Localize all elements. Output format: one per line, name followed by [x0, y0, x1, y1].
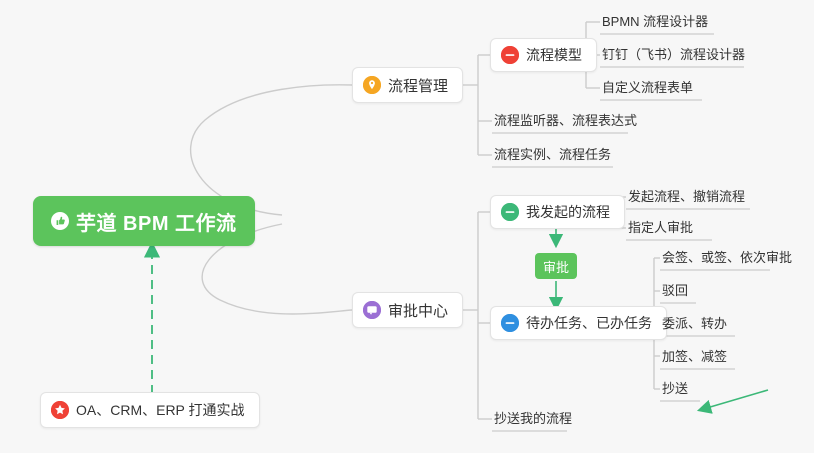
root-node[interactable]: 芋道 BPM 工作流 [33, 196, 255, 246]
node-label: 我发起的流程 [526, 202, 610, 222]
minus-circle-icon [501, 46, 519, 64]
leaf-assign-approver[interactable]: 指定人审批 [626, 216, 695, 240]
node-process-model[interactable]: 流程模型 [490, 38, 597, 72]
leaf-listener-expression[interactable]: 流程监听器、流程表达式 [492, 109, 639, 133]
branch-node-approval-center[interactable]: 审批中心 [352, 292, 463, 328]
leaf-dingtalk-designer[interactable]: 钉钉（飞书）流程设计器 [600, 43, 747, 67]
leaf-cc-to-me[interactable]: 抄送我的流程 [492, 407, 574, 431]
star-badge-icon [51, 401, 69, 419]
annotation-approval-tag: 审批 [535, 253, 577, 279]
thumbs-up-icon [51, 212, 69, 230]
leaf-add-remove-sign[interactable]: 加签、减签 [660, 345, 729, 369]
leaf-custom-form[interactable]: 自定义流程表单 [600, 76, 695, 100]
leaf-bpmn-designer[interactable]: BPMN 流程设计器 [600, 10, 710, 34]
leaf-delegate-transfer[interactable]: 委派、转办 [660, 312, 729, 336]
leaf-start-cancel-process[interactable]: 发起流程、撤销流程 [626, 185, 747, 209]
branch-label: 审批中心 [388, 300, 448, 321]
annotation-label: OA、CRM、ERP 打通实战 [76, 400, 245, 420]
node-label: 待办任务、已办任务 [526, 313, 652, 333]
minus-circle-icon [501, 314, 519, 332]
node-label: 流程模型 [526, 45, 582, 65]
leaf-reject[interactable]: 驳回 [660, 279, 690, 303]
node-todo-done-tasks[interactable]: 待办任务、已办任务 [490, 306, 667, 340]
location-pin-icon [363, 76, 381, 94]
minus-circle-icon [501, 203, 519, 221]
root-label: 芋道 BPM 工作流 [76, 207, 237, 236]
leaf-instance-task[interactable]: 流程实例、流程任务 [492, 143, 613, 167]
message-circle-icon [363, 301, 381, 319]
node-my-initiated-process[interactable]: 我发起的流程 [490, 195, 625, 229]
annotation-integration-card[interactable]: OA、CRM、ERP 打通实战 [40, 392, 260, 428]
branch-label: 流程管理 [388, 75, 448, 96]
leaf-cc[interactable]: 抄送 [660, 377, 690, 401]
mindmap-canvas: 芋道 BPM 工作流 流程管理 流程模型 BPMN 流程设计器 钉钉（飞书）流程… [0, 0, 814, 453]
leaf-countersign[interactable]: 会签、或签、依次审批 [660, 246, 794, 270]
branch-node-process-management[interactable]: 流程管理 [352, 67, 463, 103]
